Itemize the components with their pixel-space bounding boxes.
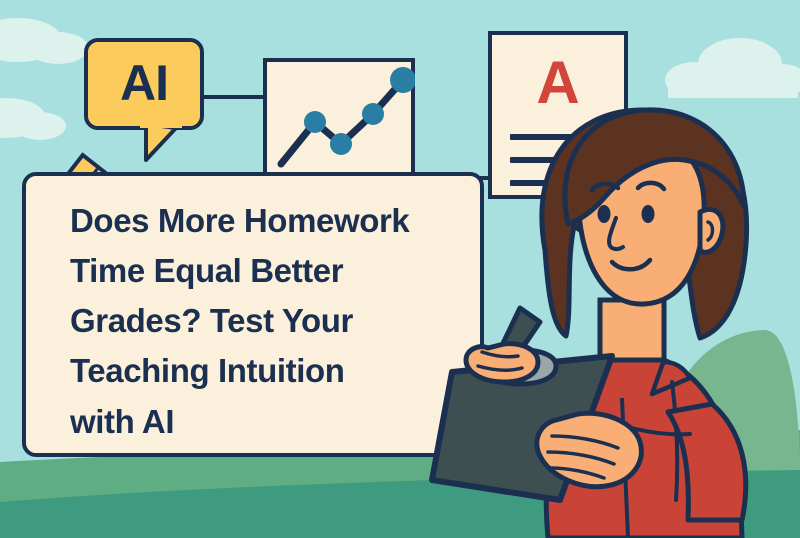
neck: [600, 300, 664, 362]
hand-left: [466, 344, 538, 382]
eye-right: [642, 205, 655, 223]
eye-left: [598, 205, 611, 223]
teacher-figure: [0, 0, 800, 538]
writing-hand: [466, 308, 540, 382]
illustration-canvas: AI A: [0, 0, 800, 538]
